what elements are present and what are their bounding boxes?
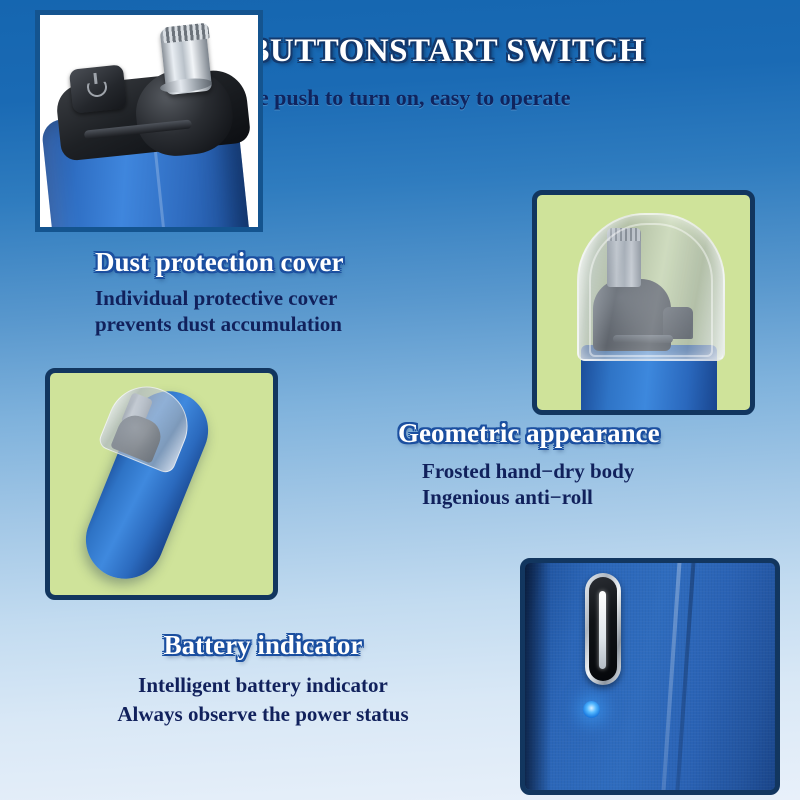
photo-battery-indicator-led: [520, 558, 780, 795]
device-edge-shadow: [525, 563, 551, 790]
feature-line: Individual protective cover: [95, 286, 343, 312]
feature-body-battery-indicator: Intelligent battery indicator Always obs…: [68, 673, 458, 727]
feature-body-dust-protection: Individual protective cover prevents dus…: [95, 286, 343, 337]
feature-line: prevents dust accumulation: [95, 312, 343, 338]
surface-texture: [525, 563, 775, 790]
dust-cover-highlight: [589, 223, 713, 357]
power-icon: [599, 591, 606, 669]
photo-dust-cover: [532, 190, 755, 415]
feature-heading-geometric-appearance: Geometric appearance: [398, 418, 660, 449]
feature-line: Frosted hand−dry body: [422, 459, 660, 485]
feature-line: Ingenious anti−roll: [422, 485, 660, 511]
photo-full-device: [45, 368, 278, 600]
feature-block-battery-indicator: Battery indicator Intelligent battery in…: [68, 630, 458, 730]
feature-block-dust-protection: Dust protection cover Individual protect…: [95, 247, 343, 337]
photo-scene: [40, 15, 258, 227]
feature-line: Intelligent battery indicator: [68, 673, 458, 699]
feature-heading-battery-indicator: Battery indicator: [68, 630, 458, 661]
photo-power-button-closeup: [35, 10, 263, 232]
photo-scene: [525, 563, 775, 790]
photo-scene: [50, 373, 273, 595]
battery-indicator-led: [583, 701, 600, 718]
feature-heading-dust-protection: Dust protection cover: [95, 247, 343, 278]
feature-line: Always observe the power status: [68, 702, 458, 728]
feature-body-geometric-appearance: Frosted hand−dry body Ingenious anti−rol…: [398, 459, 660, 510]
feature-block-geometric-appearance: Geometric appearance Frosted hand−dry bo…: [398, 418, 660, 510]
photo-scene: [537, 195, 750, 410]
product-infographic-poster: ONE−BUTTONSTART SWITCH One push to turn …: [0, 0, 800, 800]
